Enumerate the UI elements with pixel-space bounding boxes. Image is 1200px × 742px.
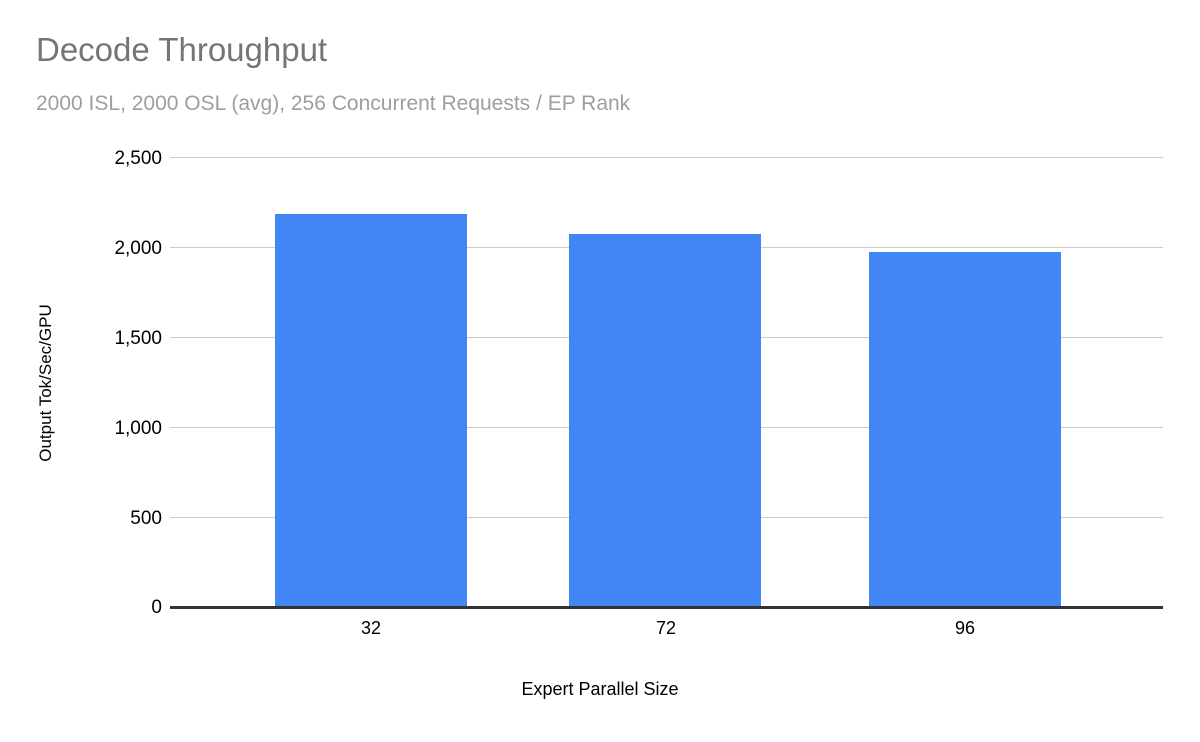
x-axis-line: [170, 606, 1163, 609]
chart-subtitle: 2000 ISL, 2000 OSL (avg), 256 Concurrent…: [36, 91, 630, 116]
y-tick-label-0: 0: [60, 598, 162, 617]
bar-32[interactable]: [275, 214, 467, 608]
bar-72[interactable]: [569, 234, 761, 608]
y-tick-label-1500: 1,500: [60, 329, 162, 348]
y-tick-label-2000: 2,000: [60, 239, 162, 258]
y-tick-label-1000: 1,000: [60, 419, 162, 438]
bar-96[interactable]: [869, 252, 1061, 608]
y-tick-label-2500: 2,500: [60, 149, 162, 168]
x-tick-label-72: 72: [606, 618, 726, 638]
x-tick-label-32: 32: [311, 618, 431, 638]
gridline-2500: [170, 157, 1163, 158]
x-axis-title: Expert Parallel Size: [0, 678, 1200, 700]
y-axis-title: Output Tok/Sec/GPU: [36, 304, 56, 461]
chart-title: Decode Throughput: [36, 31, 327, 69]
y-tick-label-500: 500: [60, 509, 162, 528]
chart-container: Decode Throughput 2000 ISL, 2000 OSL (av…: [0, 0, 1200, 742]
x-tick-label-96: 96: [905, 618, 1025, 638]
plot-area: [170, 157, 1163, 608]
